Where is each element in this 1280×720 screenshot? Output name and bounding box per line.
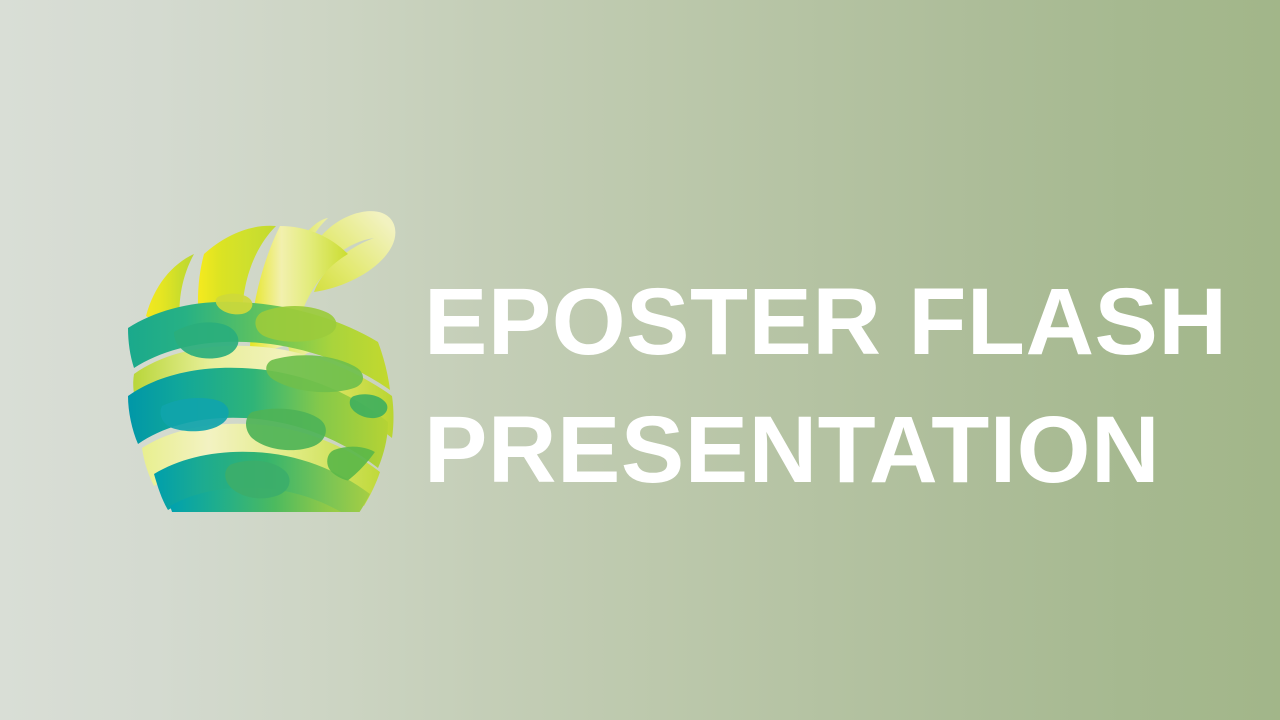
- title-block: EPOSTER FLASH PRESENTATION: [424, 258, 1184, 514]
- globe-ribbon-logo: [122, 200, 404, 512]
- slide-canvas: EPOSTER FLASH PRESENTATION: [0, 0, 1280, 720]
- title-line-1: EPOSTER FLASH: [424, 258, 1184, 386]
- title-line-2: PRESENTATION: [424, 386, 1184, 514]
